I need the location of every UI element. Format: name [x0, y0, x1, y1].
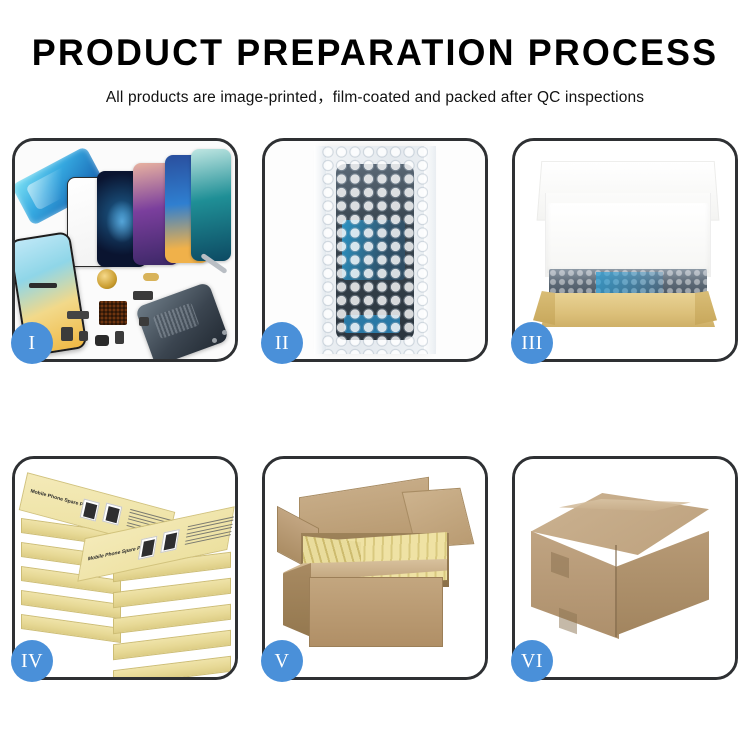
coil-part-icon	[97, 269, 117, 289]
step-5-image	[265, 459, 485, 677]
small-part-icon	[139, 317, 149, 326]
stacked-box-edge	[21, 590, 121, 619]
bubble-texture-icon	[322, 146, 428, 354]
flex-cable-icon	[67, 311, 89, 319]
step-3-image	[515, 141, 735, 359]
product-preparation-infographic: PRODUCT PREPARATION PROCESS All products…	[0, 0, 750, 750]
step-badge-5: V	[261, 640, 303, 682]
step-1-image	[15, 141, 235, 359]
box-stack-icon: Mobile Phone Spare Parts Mobile Phone Sp…	[21, 479, 233, 675]
box-phone-image	[80, 498, 100, 521]
step-panel-2: II	[262, 138, 488, 362]
small-part-icon	[79, 331, 88, 341]
box-side-left	[533, 291, 555, 325]
carton-vertical-edge	[615, 545, 617, 637]
step-badge-6: VI	[511, 640, 553, 682]
step-badge-4: IV	[11, 640, 53, 682]
flex-cable-icon	[133, 291, 153, 300]
connector-grid-icon	[99, 301, 127, 325]
small-part-icon	[95, 335, 109, 346]
carton-side-panel	[283, 563, 311, 637]
step-badge-2: II	[261, 322, 303, 364]
step-panel-4: Mobile Phone Spare Parts Mobile Phone Sp…	[12, 456, 238, 680]
box-phone-image	[160, 529, 180, 553]
stacked-box-edge	[21, 614, 121, 643]
small-part-icon	[61, 327, 73, 341]
step-badge-1: I	[11, 322, 53, 364]
stacked-box-edge	[113, 604, 231, 634]
box-side-right	[695, 291, 717, 325]
flex-cable-icon	[29, 283, 57, 288]
step-2-image	[265, 141, 485, 359]
small-part-icon	[115, 331, 124, 344]
bubble-bag-icon	[322, 146, 428, 354]
stacked-box-edge	[113, 656, 231, 677]
process-steps-grid: I II	[12, 138, 738, 680]
box-phone-image	[102, 503, 122, 526]
page-title: PRODUCT PREPARATION PROCESS	[11, 34, 739, 73]
carton-front-panel	[309, 577, 443, 647]
step-6-image	[515, 459, 735, 677]
header: PRODUCT PREPARATION PROCESS All products…	[0, 0, 750, 107]
step-4-image: Mobile Phone Spare Parts Mobile Phone Sp…	[15, 459, 235, 677]
gold-connector-icon	[143, 273, 159, 281]
step-badge-3: III	[511, 322, 553, 364]
phone-screens-group	[67, 149, 227, 267]
screw-icon	[222, 330, 227, 335]
box-spec-lines	[184, 516, 234, 549]
stacked-box-edge	[113, 630, 231, 660]
step-panel-6: VI	[512, 456, 738, 680]
stacked-box-edge	[113, 578, 231, 608]
step-panel-1: I	[12, 138, 238, 362]
box-phone-image	[138, 536, 158, 560]
box-front-panel	[541, 293, 715, 327]
foam-lining-icon	[547, 203, 709, 273]
step-panel-5: V	[262, 456, 488, 680]
screw-icon	[212, 338, 217, 343]
phone-screen-icon	[191, 149, 231, 261]
step-panel-3: III	[512, 138, 738, 362]
page-subtitle: All products are image-printed，film-coat…	[0, 85, 750, 107]
